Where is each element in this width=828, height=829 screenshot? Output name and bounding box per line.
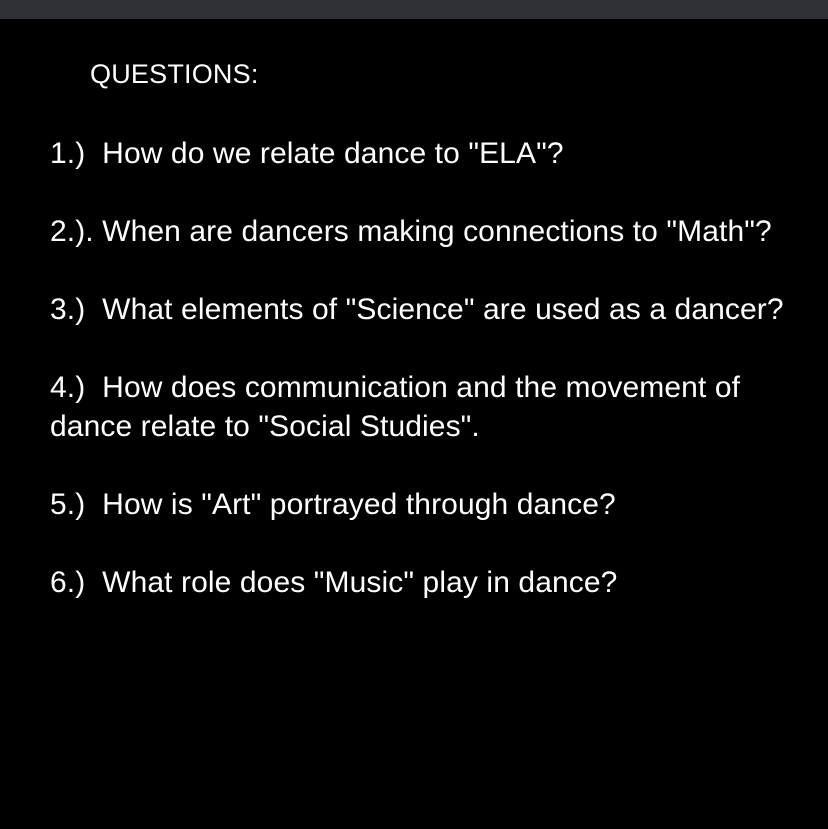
question-list: 1.) How do we relate dance to "ELA"? 2.)…: [50, 134, 810, 602]
list-item: 6.) What role does "Music" play in dance…: [50, 563, 810, 602]
list-item: 4.) How does communication and the movem…: [50, 368, 810, 446]
slide-content-area: QUESTIONS: 1.) How do we relate dance to…: [0, 19, 828, 829]
list-item: 3.) What elements of "Science" are used …: [50, 290, 810, 329]
list-item: 1.) How do we relate dance to "ELA"?: [50, 134, 810, 173]
list-item: 2.). When are dancers making connections…: [50, 212, 810, 251]
slide-screen: QUESTIONS: 1.) How do we relate dance to…: [0, 0, 828, 829]
list-item: 5.) How is "Art" portrayed through dance…: [50, 485, 810, 524]
top-bar: [0, 0, 828, 19]
page-title: QUESTIONS:: [90, 58, 259, 90]
